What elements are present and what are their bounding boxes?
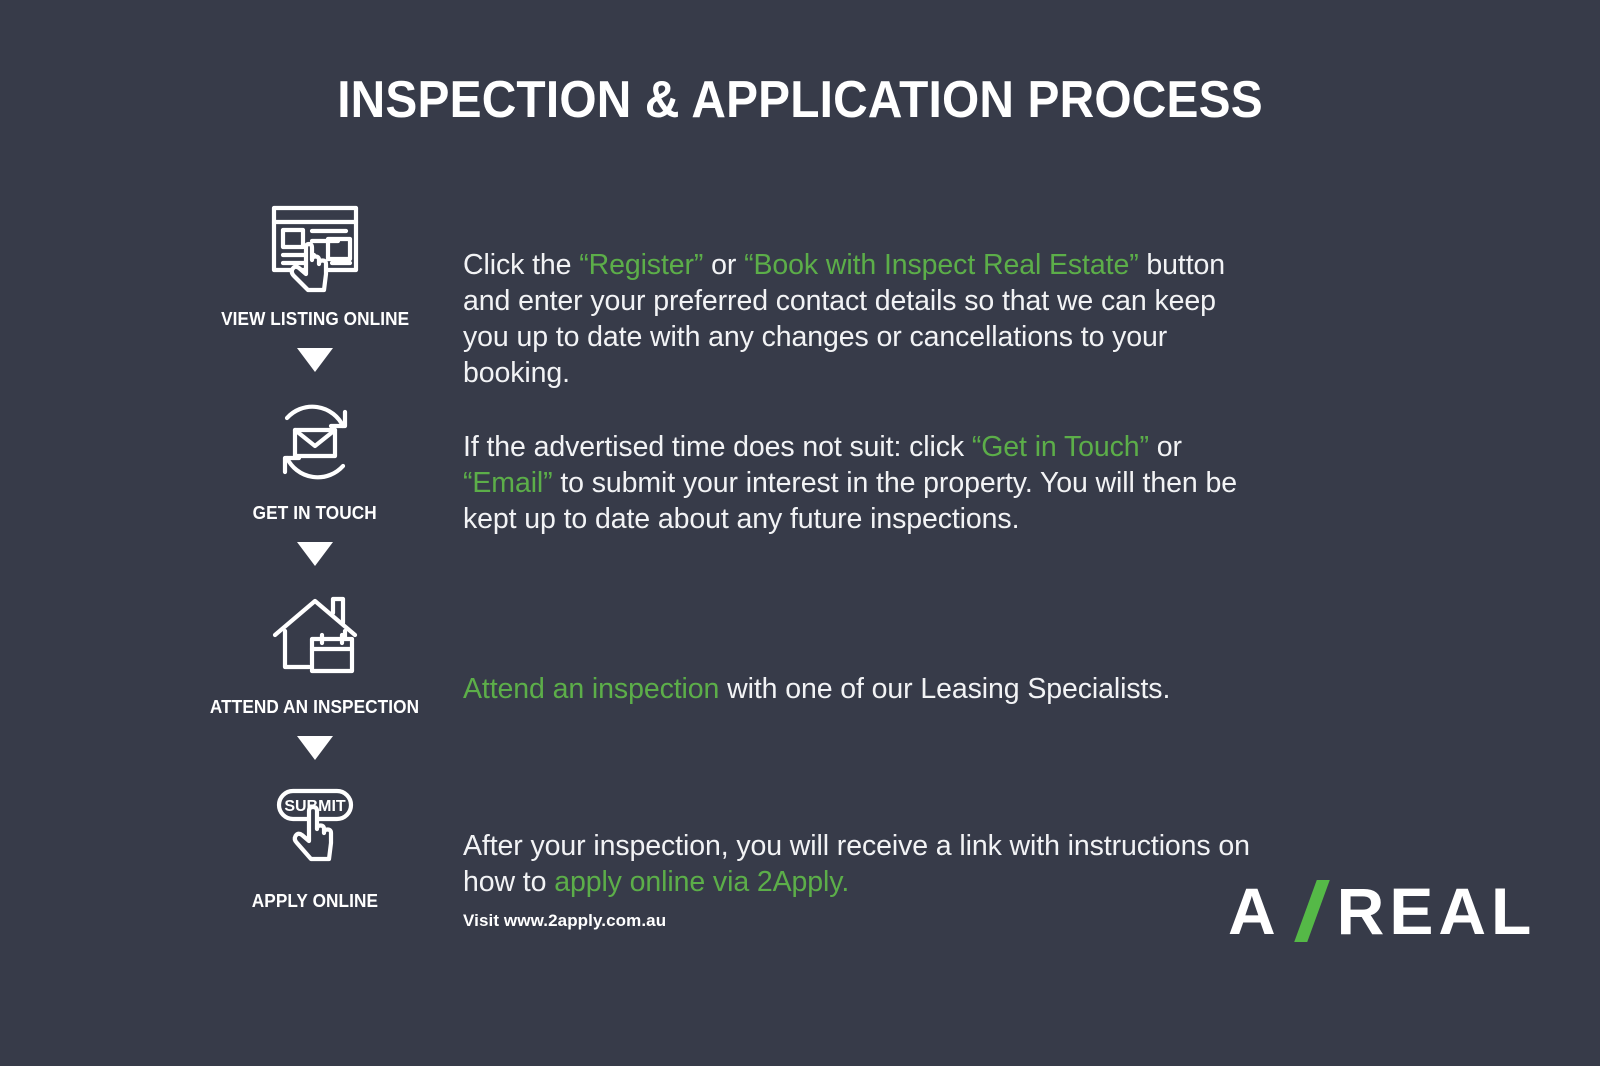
text-segment-highlight: Attend an inspection (463, 673, 719, 705)
step-label: ATTEND AN INSPECTION (210, 696, 419, 718)
submit-button-pointer-icon: SUBMIT (260, 782, 370, 878)
triangle-down-icon (297, 736, 333, 760)
text-segment-highlight: “Register” (579, 249, 703, 281)
page-title: INSPECTION & APPLICATION PROCESS (64, 70, 1536, 130)
diagonal-slash-icon (1291, 880, 1333, 942)
house-calendar-icon (260, 588, 370, 684)
logo-word-real: REAL (1337, 878, 1537, 944)
email-refresh-icon (260, 394, 370, 490)
logo-letter-a: A (1228, 878, 1281, 944)
step-label: GET IN TOUCH (253, 502, 377, 524)
step-view-listing-online: VIEW LISTING ONLINE (150, 200, 480, 330)
text-segment: to submit your interest in the property.… (463, 467, 1237, 535)
text-segment: If the advertised time does not suit: cl… (463, 431, 972, 463)
flow-arrow-3 (150, 736, 480, 760)
step-paragraph-4: After your inspection, you will receive … (463, 829, 1253, 901)
step-label: VIEW LISTING ONLINE (221, 308, 409, 330)
step-paragraph-3: Attend an inspection with one of our Lea… (463, 672, 1253, 708)
text-segment: with one of our Leasing Specialists. (719, 673, 1170, 705)
text-segment: or (1149, 431, 1182, 463)
triangle-down-icon (297, 348, 333, 372)
visit-url-note: Visit www.2apply.com.au (463, 911, 666, 931)
brand-logo: A REAL (1228, 878, 1536, 944)
flow-arrow-1 (150, 348, 480, 372)
step-paragraph-2: If the advertised time does not suit: cl… (463, 430, 1253, 538)
listing-page-pointer-icon (260, 200, 370, 296)
text-segment-highlight: “Email” (463, 467, 553, 499)
step-paragraph-1: Click the “Register” or “Book with Inspe… (463, 248, 1253, 392)
text-segment-highlight: “Book with Inspect Real Estate” (744, 249, 1139, 281)
text-segment: Click the (463, 249, 579, 281)
text-segment-highlight: “Get in Touch” (972, 431, 1149, 463)
process-flow-column: VIEW LISTING ONLINE GET IN TOUCH (150, 200, 480, 912)
text-segment: or (703, 249, 744, 281)
flow-arrow-2 (150, 542, 480, 566)
step-apply-online: SUBMIT APPLY ONLINE (150, 782, 480, 912)
step-attend-an-inspection: ATTEND AN INSPECTION (150, 588, 480, 718)
triangle-down-icon (297, 542, 333, 566)
step-get-in-touch: GET IN TOUCH (150, 394, 480, 524)
text-segment-highlight: apply online via 2Apply. (554, 866, 849, 898)
step-label: APPLY ONLINE (252, 890, 378, 912)
